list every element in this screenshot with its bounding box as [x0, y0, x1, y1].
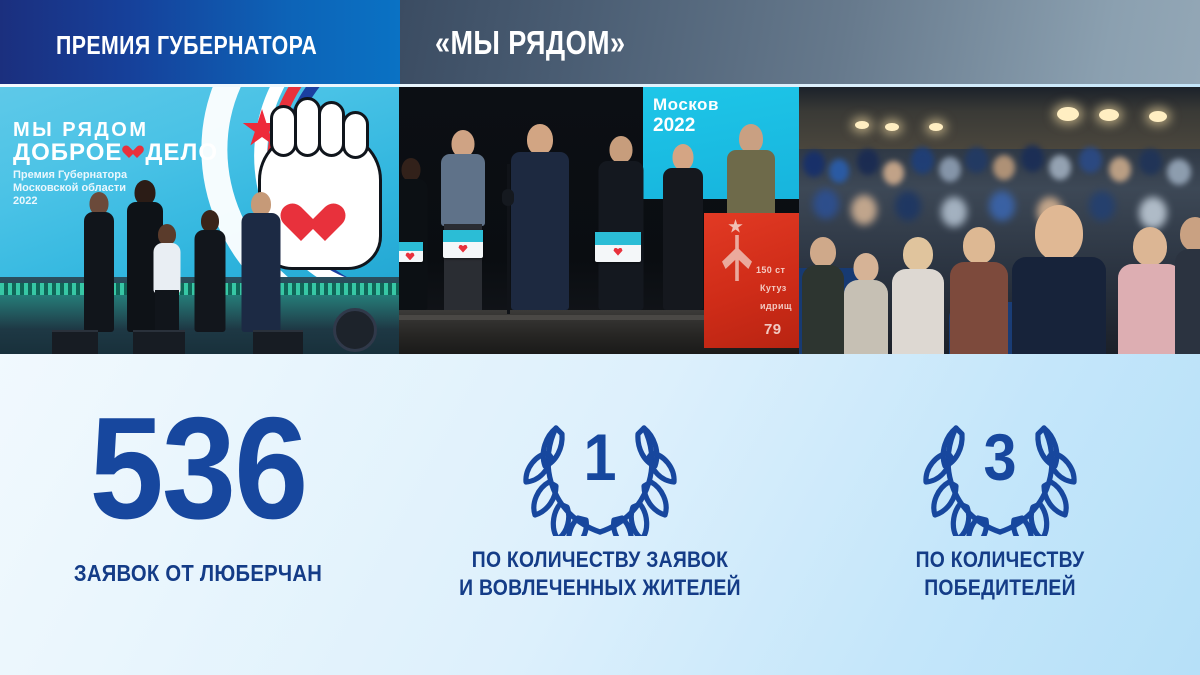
body [802, 265, 844, 354]
microphone-stand [507, 164, 510, 314]
person-woman-pink [1117, 227, 1183, 354]
heart-icon-large [290, 205, 336, 247]
crowd-blob [895, 191, 921, 221]
screen-line-1: Москов [653, 95, 719, 115]
crowd-blob [851, 195, 877, 225]
head [963, 227, 995, 264]
person-woman-sequin [661, 144, 705, 310]
person-woman-glasses [949, 227, 1009, 354]
stat-label-line-2: И ВОВЛЕЧЕННЫХ ЖИТЕЛЕЙ [424, 574, 776, 602]
laurel-wreath-icon: 1 [518, 406, 682, 536]
crowd-blob [803, 151, 825, 177]
crowd-blob [1139, 197, 1167, 229]
body [950, 262, 1008, 354]
screen-line-2: 2022 [653, 115, 695, 137]
photo-audience-hall [799, 87, 1200, 354]
body [1012, 257, 1106, 354]
legs [155, 290, 179, 332]
flag-line-2: Кутуз [760, 283, 787, 293]
banner-line-2a: ДОБРОЕ [13, 139, 122, 167]
heart-icon-small [126, 146, 141, 160]
stat-label-line-1: ПО КОЛИЧЕСТВУ ЗАЯВОК [424, 546, 776, 574]
head [201, 210, 219, 232]
header-gray-panel: «МЫ РЯДОМ» [400, 0, 1200, 84]
crowd-blob [813, 189, 839, 219]
crowd-blob [993, 155, 1015, 180]
stat-applications: 536 ЗАЯВОК ОТ ЛЮБЕРЧАН [0, 396, 396, 588]
stat-value-rank-winners: 3 [926, 424, 1074, 490]
crowd-blob [941, 197, 967, 227]
crowd-blob [857, 149, 879, 175]
stat-label-line-1: ПО КОЛИЧЕСТВУ [824, 546, 1176, 574]
finger-2 [294, 97, 321, 157]
body [511, 152, 569, 310]
crowd-blob [965, 147, 988, 173]
person-speaker-microphone [509, 124, 571, 310]
crowd-blob [1139, 149, 1162, 175]
heart-icon [614, 248, 623, 256]
person-man-suit-glasses [597, 136, 645, 310]
header-blue-panel: ПРЕМИЯ ГУБЕРНАТОРА [0, 0, 400, 84]
flag-line-3: идрищ [760, 301, 792, 311]
photo-laureates-on-stage: Москов 2022 [399, 87, 799, 354]
head [903, 237, 933, 271]
head [1180, 217, 1200, 251]
wreath-wrap: 3 [800, 406, 1200, 536]
person-woman-blonde [891, 237, 945, 354]
stat-label-line-2: ПОБЕДИТЕЛЕЙ [824, 574, 1176, 602]
heart-icon [459, 245, 468, 253]
head [402, 158, 421, 181]
body [441, 154, 485, 226]
banner-line-3: Премия Губернатора [13, 169, 127, 182]
ceiling-lamp-1 [855, 121, 869, 129]
body [1175, 249, 1200, 354]
stats-section: 536 ЗАЯВОК ОТ ЛЮБЕРЧАН [0, 354, 1200, 675]
stat-label-applications: ЗАЯВОК ОТ ЛЮБЕРЧАН [24, 559, 372, 588]
person-man-sweater [439, 130, 487, 310]
stat-rank-applications: 1 ПО КОЛИЧЕСТВУ ЗАЯВОК И ВОВЛЕЧЕННЫХ ЖИТ… [400, 406, 800, 602]
body [195, 230, 226, 332]
stage-monitor-1 [52, 330, 98, 354]
crowd-blob [1079, 147, 1102, 173]
box-band [399, 242, 423, 251]
certificate-box-3 [595, 232, 641, 262]
stage-fan [333, 308, 377, 352]
photo-stage-award-family: МЫ РЯДОМ ДОБРОЕ ДЕЛО Премия Губернатора … [0, 87, 399, 354]
photo-strip: МЫ РЯДОМ ДОБРОЕ ДЕЛО Премия Губернатора … [0, 87, 1200, 354]
slide-header: ПРЕМИЯ ГУБЕРНАТОРА «МЫ РЯДОМ» [0, 0, 1200, 84]
stage-monitor-2 [133, 330, 185, 354]
finger-3 [318, 101, 345, 157]
banner-line-2b: ДЕЛО [145, 139, 218, 167]
stat-value-rank-applications: 1 [526, 424, 674, 490]
head [158, 224, 176, 245]
finger-4 [342, 111, 369, 159]
body [844, 280, 888, 354]
box-band [443, 230, 483, 242]
finger-1 [270, 105, 297, 157]
certificate-box-2 [443, 230, 483, 258]
certificate-box-1 [399, 242, 423, 262]
head [854, 253, 879, 282]
stat-label-rank-winners: ПО КОЛИЧЕСТВУ ПОБЕДИТЕЛЕЙ [824, 546, 1176, 602]
box-band [595, 232, 641, 245]
hammer-sickle-icon [722, 235, 752, 281]
ceiling-lamp-2 [885, 123, 899, 131]
person-woman-1 [82, 192, 116, 332]
banner-line-2: ДОБРОЕ ДЕЛО [13, 139, 218, 167]
person-elderly-man-left [801, 237, 845, 354]
head [739, 124, 763, 153]
star-icon [728, 219, 743, 234]
crowd-blob [883, 161, 904, 185]
person-speaker-governor [240, 192, 282, 332]
crowd-blob [1109, 157, 1131, 182]
ceiling-lamp-5 [1099, 109, 1119, 121]
head [527, 124, 553, 155]
head [673, 144, 694, 170]
body [892, 269, 944, 354]
crowd-blob [911, 147, 934, 174]
person-young-man-suit [1011, 205, 1107, 354]
laurel-wreath-icon: 3 [918, 406, 1082, 536]
head [610, 136, 633, 163]
ceiling-lamp-6 [1149, 111, 1167, 122]
crowd-blob [939, 157, 961, 182]
header-right-title: «МЫ РЯДОМ» [435, 24, 625, 62]
stage-monitor-3 [253, 330, 303, 354]
head [810, 237, 836, 267]
person-girl [193, 210, 227, 332]
crowd-blob [1021, 145, 1044, 172]
person-woman-left [399, 158, 429, 310]
flag-line-1: 150 ст [756, 265, 785, 275]
ceiling-lamp-4 [1057, 107, 1079, 121]
microphone-icon [502, 189, 514, 206]
presentation-slide: ПРЕМИЯ ГУБЕРНАТОРА «МЫ РЯДОМ» МЫ РЯДОМ Д… [0, 0, 1200, 675]
body [663, 168, 703, 310]
stat-rank-winners: 3 ПО КОЛИЧЕСТВУ ПОБЕДИТЕЛЕЙ [800, 406, 1200, 602]
header-left-title: ПРЕМИЯ ГУБЕРНАТОРА [56, 30, 317, 61]
wreath-wrap: 1 [400, 406, 800, 536]
flag-line-4: 79 [764, 321, 782, 338]
victory-banner-flag: 150 ст Кутуз идрищ 79 [704, 213, 799, 348]
heart-icon [406, 252, 415, 260]
body [1118, 264, 1182, 354]
head [452, 130, 475, 157]
body [84, 212, 114, 332]
person-woman-beige [843, 253, 889, 354]
person-far-right [1175, 217, 1200, 354]
head [1035, 205, 1083, 261]
stat-label-rank-applications: ПО КОЛИЧЕСТВУ ЗАЯВОК И ВОВЛЕЧЕННЫХ ЖИТЕЛ… [424, 546, 776, 602]
crowd-blob [1049, 155, 1071, 180]
head [1133, 227, 1167, 266]
person-boy [152, 224, 182, 332]
crowd-blob [1167, 159, 1191, 185]
body [154, 243, 181, 293]
body [242, 213, 281, 332]
ceiling-lamp-3 [929, 123, 943, 131]
crowd-blob [829, 159, 849, 183]
stat-value-applications: 536 [16, 396, 380, 541]
